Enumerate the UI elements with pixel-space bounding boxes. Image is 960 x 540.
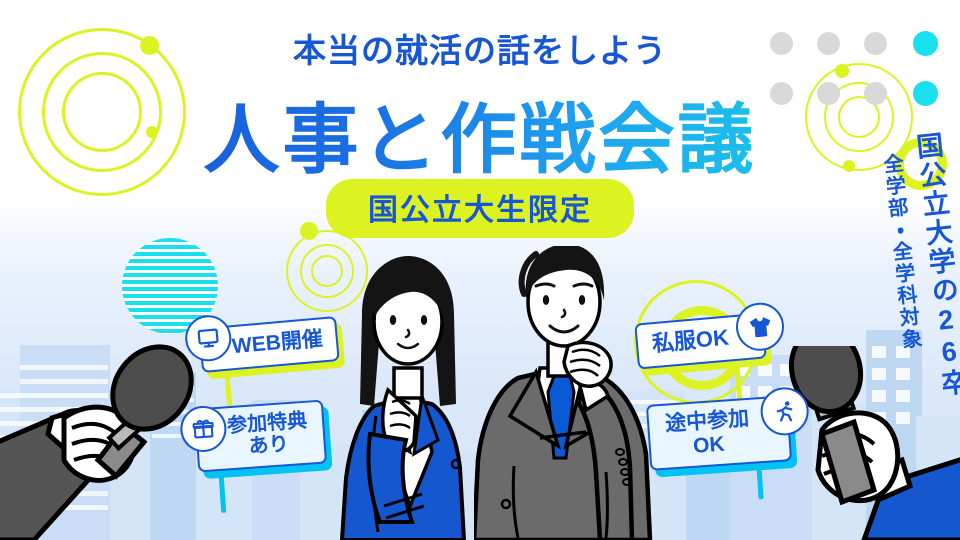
eligibility-badge: 国公立大生限定 bbox=[326, 179, 634, 238]
poster-canvas: 本当の就活の話をしよう 人事と作戦会議 国公立大生限定 全学部・全学科対象 国公… bbox=[0, 0, 960, 540]
person-man-illustration bbox=[474, 246, 666, 540]
feature-badge-perk[interactable]: 参加特典 あり bbox=[194, 400, 327, 473]
feature-badge-dresscode[interactable]: 私服OK bbox=[634, 312, 767, 369]
poster-subtitle: 本当の就活の話をしよう bbox=[0, 24, 960, 72]
poster-title: 人事と作戦会議 bbox=[0, 78, 960, 188]
feature-badge-latejoin[interactable]: 途中参加 OK bbox=[646, 395, 792, 471]
feature-badge-web[interactable]: WEB開催 bbox=[198, 316, 339, 372]
